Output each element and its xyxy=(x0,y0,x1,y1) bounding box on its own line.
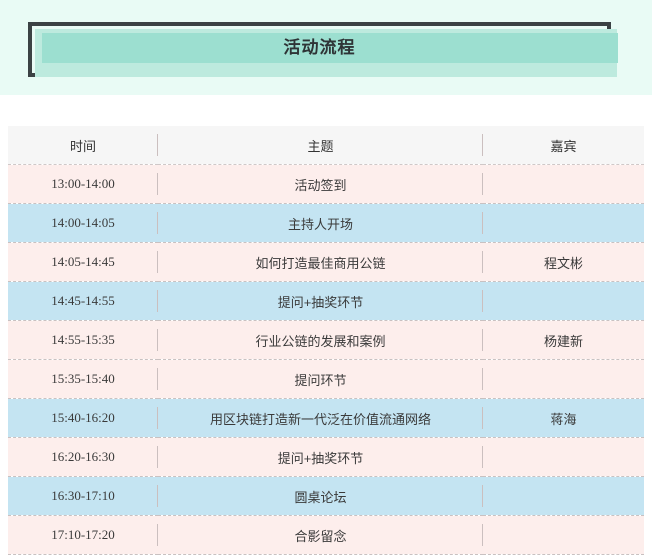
table-row: 16:20-16:30提问+抽奖环节 xyxy=(8,438,644,477)
cell-topic: 活动签到 xyxy=(158,165,483,204)
cell-time: 14:05-14:45 xyxy=(8,243,158,282)
table-row: 13:00-14:00活动签到 xyxy=(8,165,644,204)
schedule-table: 时间 主题 嘉宾 13:00-14:00活动签到14:00-14:05主持人开场… xyxy=(8,126,644,555)
column-header-time: 时间 xyxy=(8,126,158,165)
cell-topic: 提问+抽奖环节 xyxy=(158,438,483,477)
cell-topic: 如何打造最佳商用公链 xyxy=(158,243,483,282)
cell-topic: 合影留念 xyxy=(158,516,483,555)
cell-guest: 杨建新 xyxy=(483,321,644,360)
cell-time: 14:45-14:55 xyxy=(8,282,158,321)
page-banner: 活动流程 xyxy=(0,0,652,95)
cell-topic: 主持人开场 xyxy=(158,204,483,243)
table-row: 17:10-17:20合影留念 xyxy=(8,516,644,555)
cell-time: 15:35-15:40 xyxy=(8,360,158,399)
column-header-guest: 嘉宾 xyxy=(483,126,644,165)
table-row: 16:30-17:10圆桌论坛 xyxy=(8,477,644,516)
cell-topic: 圆桌论坛 xyxy=(158,477,483,516)
cell-time: 13:00-14:00 xyxy=(8,165,158,204)
cell-guest xyxy=(483,204,644,243)
cell-guest xyxy=(483,165,644,204)
table-row: 15:35-15:40提问环节 xyxy=(8,360,644,399)
cell-topic: 提问+抽奖环节 xyxy=(158,282,483,321)
schedule-table-body: 13:00-14:00活动签到14:00-14:05主持人开场14:05-14:… xyxy=(8,165,644,555)
cell-guest: 程文彬 xyxy=(483,243,644,282)
cell-guest xyxy=(483,438,644,477)
cell-topic: 用区块链打造新一代泛在价值流通网络 xyxy=(158,399,483,438)
table-row: 14:45-14:55提问+抽奖环节 xyxy=(8,282,644,321)
cell-guest: 蒋海 xyxy=(483,399,644,438)
cell-guest xyxy=(483,282,644,321)
table-row: 14:55-15:35行业公链的发展和案例杨建新 xyxy=(8,321,644,360)
cell-time: 16:30-17:10 xyxy=(8,477,158,516)
cell-topic: 提问环节 xyxy=(158,360,483,399)
cell-time: 16:20-16:30 xyxy=(8,438,158,477)
table-header-row: 时间 主题 嘉宾 xyxy=(8,126,644,165)
column-header-topic: 主题 xyxy=(158,126,483,165)
banner-table-spacer xyxy=(0,95,652,126)
table-row: 15:40-16:20用区块链打造新一代泛在价值流通网络蒋海 xyxy=(8,399,644,438)
cell-guest xyxy=(483,477,644,516)
cell-time: 15:40-16:20 xyxy=(8,399,158,438)
table-row: 14:05-14:45如何打造最佳商用公链程文彬 xyxy=(8,243,644,282)
cell-time: 17:10-17:20 xyxy=(8,516,158,555)
schedule-table-container: 时间 主题 嘉宾 13:00-14:00活动签到14:00-14:05主持人开场… xyxy=(0,126,652,555)
table-row: 14:00-14:05主持人开场 xyxy=(8,204,644,243)
cell-time: 14:55-15:35 xyxy=(8,321,158,360)
cell-guest xyxy=(483,360,644,399)
cell-time: 14:00-14:05 xyxy=(8,204,158,243)
cell-guest xyxy=(483,516,644,555)
cell-topic: 行业公链的发展和案例 xyxy=(158,321,483,360)
schedule-table-header: 时间 主题 嘉宾 xyxy=(8,126,644,165)
page-title: 活动流程 xyxy=(28,33,611,63)
